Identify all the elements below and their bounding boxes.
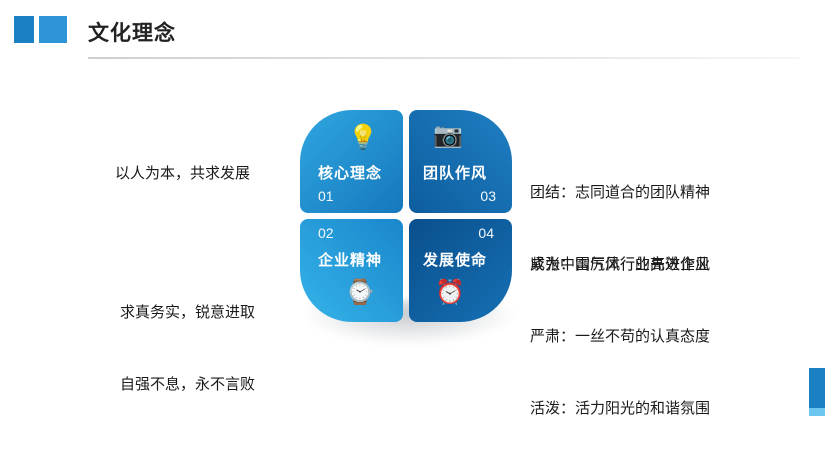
slide-header: 文化理念 (0, 0, 825, 60)
petal-core-title: 核心理念 (318, 162, 382, 183)
petal-team-number: 03 (480, 188, 496, 204)
petal-spirit-number: 02 (318, 225, 334, 241)
watch-icon: ⌚ (345, 281, 375, 305)
petal-mission-title: 发展使命 (423, 249, 487, 270)
petal-spirit[interactable]: ⌚ 企业精神 02 (300, 219, 403, 322)
petal-team-title: 团队作风 (423, 162, 487, 183)
petal-mission[interactable]: ⏰ 发展使命 04 (409, 219, 512, 322)
header-square-light (39, 16, 67, 43)
edge-accent-dark (809, 368, 825, 408)
culture-diagram: 💡 核心理念 01 📷 团队作风 03 ⌚ 企业精神 02 ⏰ 发展使命 04 (300, 110, 515, 325)
camera-icon: 📷 (433, 124, 463, 148)
petal-spirit-title: 企业精神 (318, 249, 382, 270)
page-title: 文化理念 (88, 17, 176, 47)
slide: 文化理念 以人为本，共求发展 求真务实，锐意进取 自强不息，永不言败 团结：志同… (0, 0, 825, 465)
text-team-line-3: 严肃：一丝不苟的认真态度 (530, 325, 710, 349)
text-core-description: 以人为本，共求发展 (115, 162, 250, 186)
alarm-clock-icon: ⏰ (435, 281, 465, 305)
text-spirit-line-1: 求真务实，锐意进取 (120, 301, 255, 325)
petal-team[interactable]: 📷 团队作风 03 (409, 110, 512, 213)
text-spirit-line-2: 自强不息，永不言败 (120, 373, 255, 397)
header-square-dark (14, 16, 34, 43)
text-team-line-4: 活泼：活力阳光的和谐氛围 (530, 397, 710, 421)
header-divider (88, 57, 800, 59)
text-mission-description: 成为中国气体行业先进企业 (530, 253, 710, 277)
petal-core[interactable]: 💡 核心理念 01 (300, 110, 403, 213)
text-spirit-description: 求真务实，锐意进取 自强不息，永不言败 (120, 253, 255, 445)
text-team-line-1: 团结：志同道合的团队精神 (530, 181, 710, 205)
edge-accent-light (809, 408, 825, 416)
lightbulb-icon: 💡 (348, 126, 378, 150)
text-team-description: 团结：志同道合的团队精神 紧张：雷厉风行的高效作风 严肃：一丝不苟的认真态度 活… (530, 133, 710, 465)
petal-mission-number: 04 (478, 225, 494, 241)
petal-core-number: 01 (318, 188, 334, 204)
